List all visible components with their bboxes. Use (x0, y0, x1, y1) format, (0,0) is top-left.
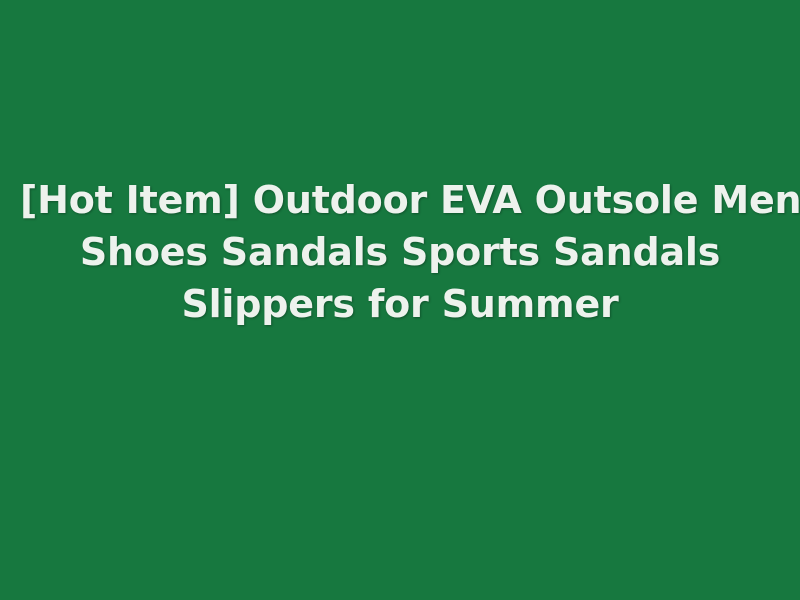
page-title: [Hot Item] Outdoor EVA Outsole Mens Shoe… (0, 0, 800, 600)
page-title-line-1: [Hot Item] Outdoor EVA Outsole Mens (20, 174, 780, 226)
page-title-line-3: Slippers for Summer (20, 278, 780, 330)
page-title-line-2: Shoes Sandals Sports Sandals (20, 226, 780, 278)
product-title-card: [Hot Item] Outdoor EVA Outsole Mens Shoe… (0, 0, 800, 600)
